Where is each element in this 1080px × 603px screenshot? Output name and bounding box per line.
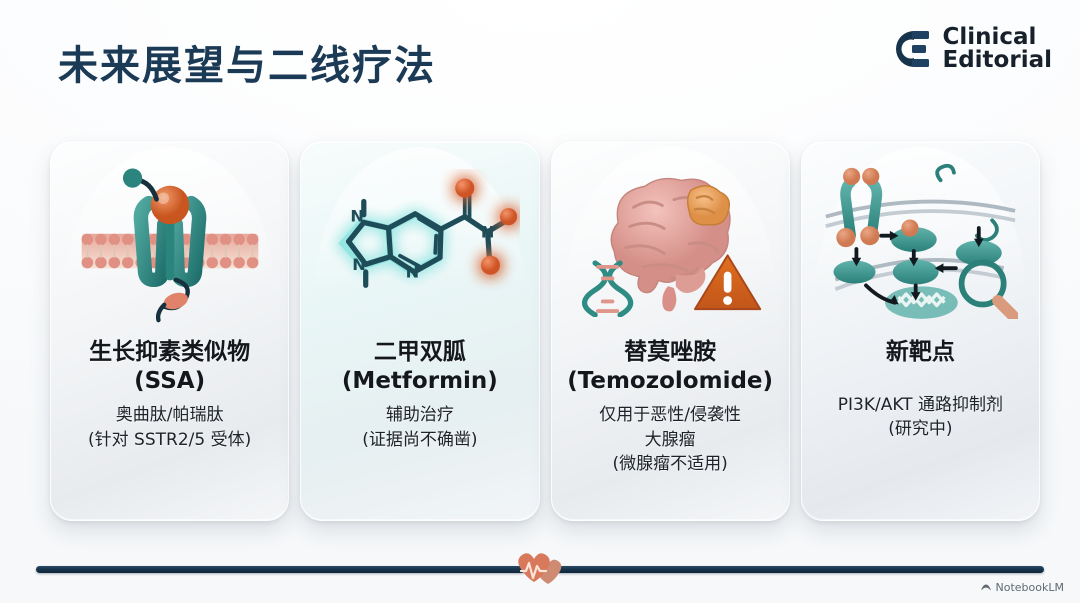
brand-logo-line1: Clinical: [943, 26, 1053, 49]
therapy-card-row: 生长抑素类似物 (SSA) 奥曲肽/帕瑞肽 (针对 SSTR2/5 受体): [50, 141, 1040, 521]
therapy-card-new-targets[interactable]: 新靶点 PI3K/AKT 通路抑制剂 (研究中): [801, 141, 1040, 521]
therapy-card-ssa-text: 生长抑素类似物 (SSA) 奥曲肽/帕瑞肽 (针对 SSTR2/5 受体): [51, 338, 288, 452]
card-sub-line1: 辅助治疗: [309, 403, 530, 427]
slide-root: 未来展望与二线疗法 Clinical Editorial: [0, 0, 1080, 603]
therapy-card-metformin-text: 二甲双胍 (Metformin) 辅助治疗 (证据尚不确凿): [301, 338, 538, 452]
divider-line-left: [36, 566, 525, 573]
card-sub-line2: 大腺瘤: [560, 428, 781, 452]
card-title: 新靶点: [810, 338, 1031, 367]
card-title-en: (SSA): [59, 367, 280, 396]
signaling-pathway-icon: [802, 142, 1039, 338]
brand-logo: Clinical Editorial: [889, 26, 1053, 73]
card-subtitle: 辅助治疗 (证据尚不确凿): [309, 403, 530, 451]
svg-text:N: N: [481, 222, 495, 241]
notebooklm-logo-icon: [980, 582, 992, 594]
ce-monogram-logo-icon: [889, 27, 933, 71]
card-sub-line2: (针对 SSTR2/5 受体): [59, 428, 280, 452]
card-title: 生长抑素类似物 (SSA): [59, 338, 280, 396]
therapy-card-temozolomide-text: 替莫唑胺 (Temozolomide) 仅用于恶性/侵袭性 大腺瘤 (微腺瘤不适…: [552, 338, 789, 476]
notebooklm-watermark-text: NotebookLM: [996, 581, 1064, 594]
card-title: 二甲双胍 (Metformin): [309, 338, 530, 396]
card-title-cn: 生长抑素类似物: [59, 338, 280, 367]
notebooklm-watermark: NotebookLM: [980, 581, 1064, 594]
double-heart-pulse-icon: [516, 545, 564, 593]
card-sub-line1: PI3K/AKT 通路抑制剂: [810, 393, 1031, 417]
therapy-card-ssa[interactable]: 生长抑素类似物 (SSA) 奥曲肽/帕瑞肽 (针对 SSTR2/5 受体): [50, 141, 289, 521]
slide-header: 未来展望与二线疗法 Clinical Editorial: [0, 0, 1080, 118]
page-title: 未来展望与二线疗法: [58, 33, 436, 91]
brain-tumor-dna-warning-icon: [552, 142, 789, 338]
therapy-card-temozolomide[interactable]: 替莫唑胺 (Temozolomide) 仅用于恶性/侵袭性 大腺瘤 (微腺瘤不适…: [551, 141, 790, 521]
card-title: 替莫唑胺 (Temozolomide): [560, 338, 781, 396]
card-sub-line2: (证据尚不确凿): [309, 428, 530, 452]
card-title-en: (Metformin): [309, 367, 530, 396]
card-subtitle: 奥曲肽/帕瑞肽 (针对 SSTR2/5 受体): [59, 403, 280, 451]
membrane-receptor-ligand-icon: [51, 142, 288, 338]
molecule-structure-icon: N N N N: [301, 142, 538, 338]
card-title-en: (Temozolomide): [560, 367, 781, 396]
brand-logo-line2: Editorial: [943, 49, 1053, 72]
svg-text:N: N: [350, 206, 364, 225]
card-sub-line1: 奥曲肽/帕瑞肽: [59, 403, 280, 427]
card-sub-line2: (研究中): [810, 417, 1031, 441]
card-sub-line1: 仅用于恶性/侵袭性: [560, 403, 781, 427]
card-sub-line3: (微腺瘤不适用): [560, 452, 781, 476]
card-title-cn: 二甲双胍: [309, 338, 530, 367]
slide-footer: NotebookLM: [0, 540, 1080, 603]
card-subtitle: 仅用于恶性/侵袭性 大腺瘤 (微腺瘤不适用): [560, 403, 781, 475]
divider-line-right: [556, 566, 1044, 573]
therapy-card-metformin[interactable]: N N N N 二甲双胍 (Metformin): [300, 141, 539, 521]
card-subtitle: PI3K/AKT 通路抑制剂 (研究中): [810, 393, 1031, 441]
card-title-cn: 替莫唑胺: [560, 338, 781, 367]
card-title-cn: 新靶点: [810, 338, 1031, 367]
therapy-card-new-targets-text: 新靶点 PI3K/AKT 通路抑制剂 (研究中): [802, 338, 1039, 441]
brand-logo-text: Clinical Editorial: [943, 26, 1053, 73]
svg-text:N: N: [352, 255, 366, 274]
svg-text:N: N: [405, 262, 419, 281]
